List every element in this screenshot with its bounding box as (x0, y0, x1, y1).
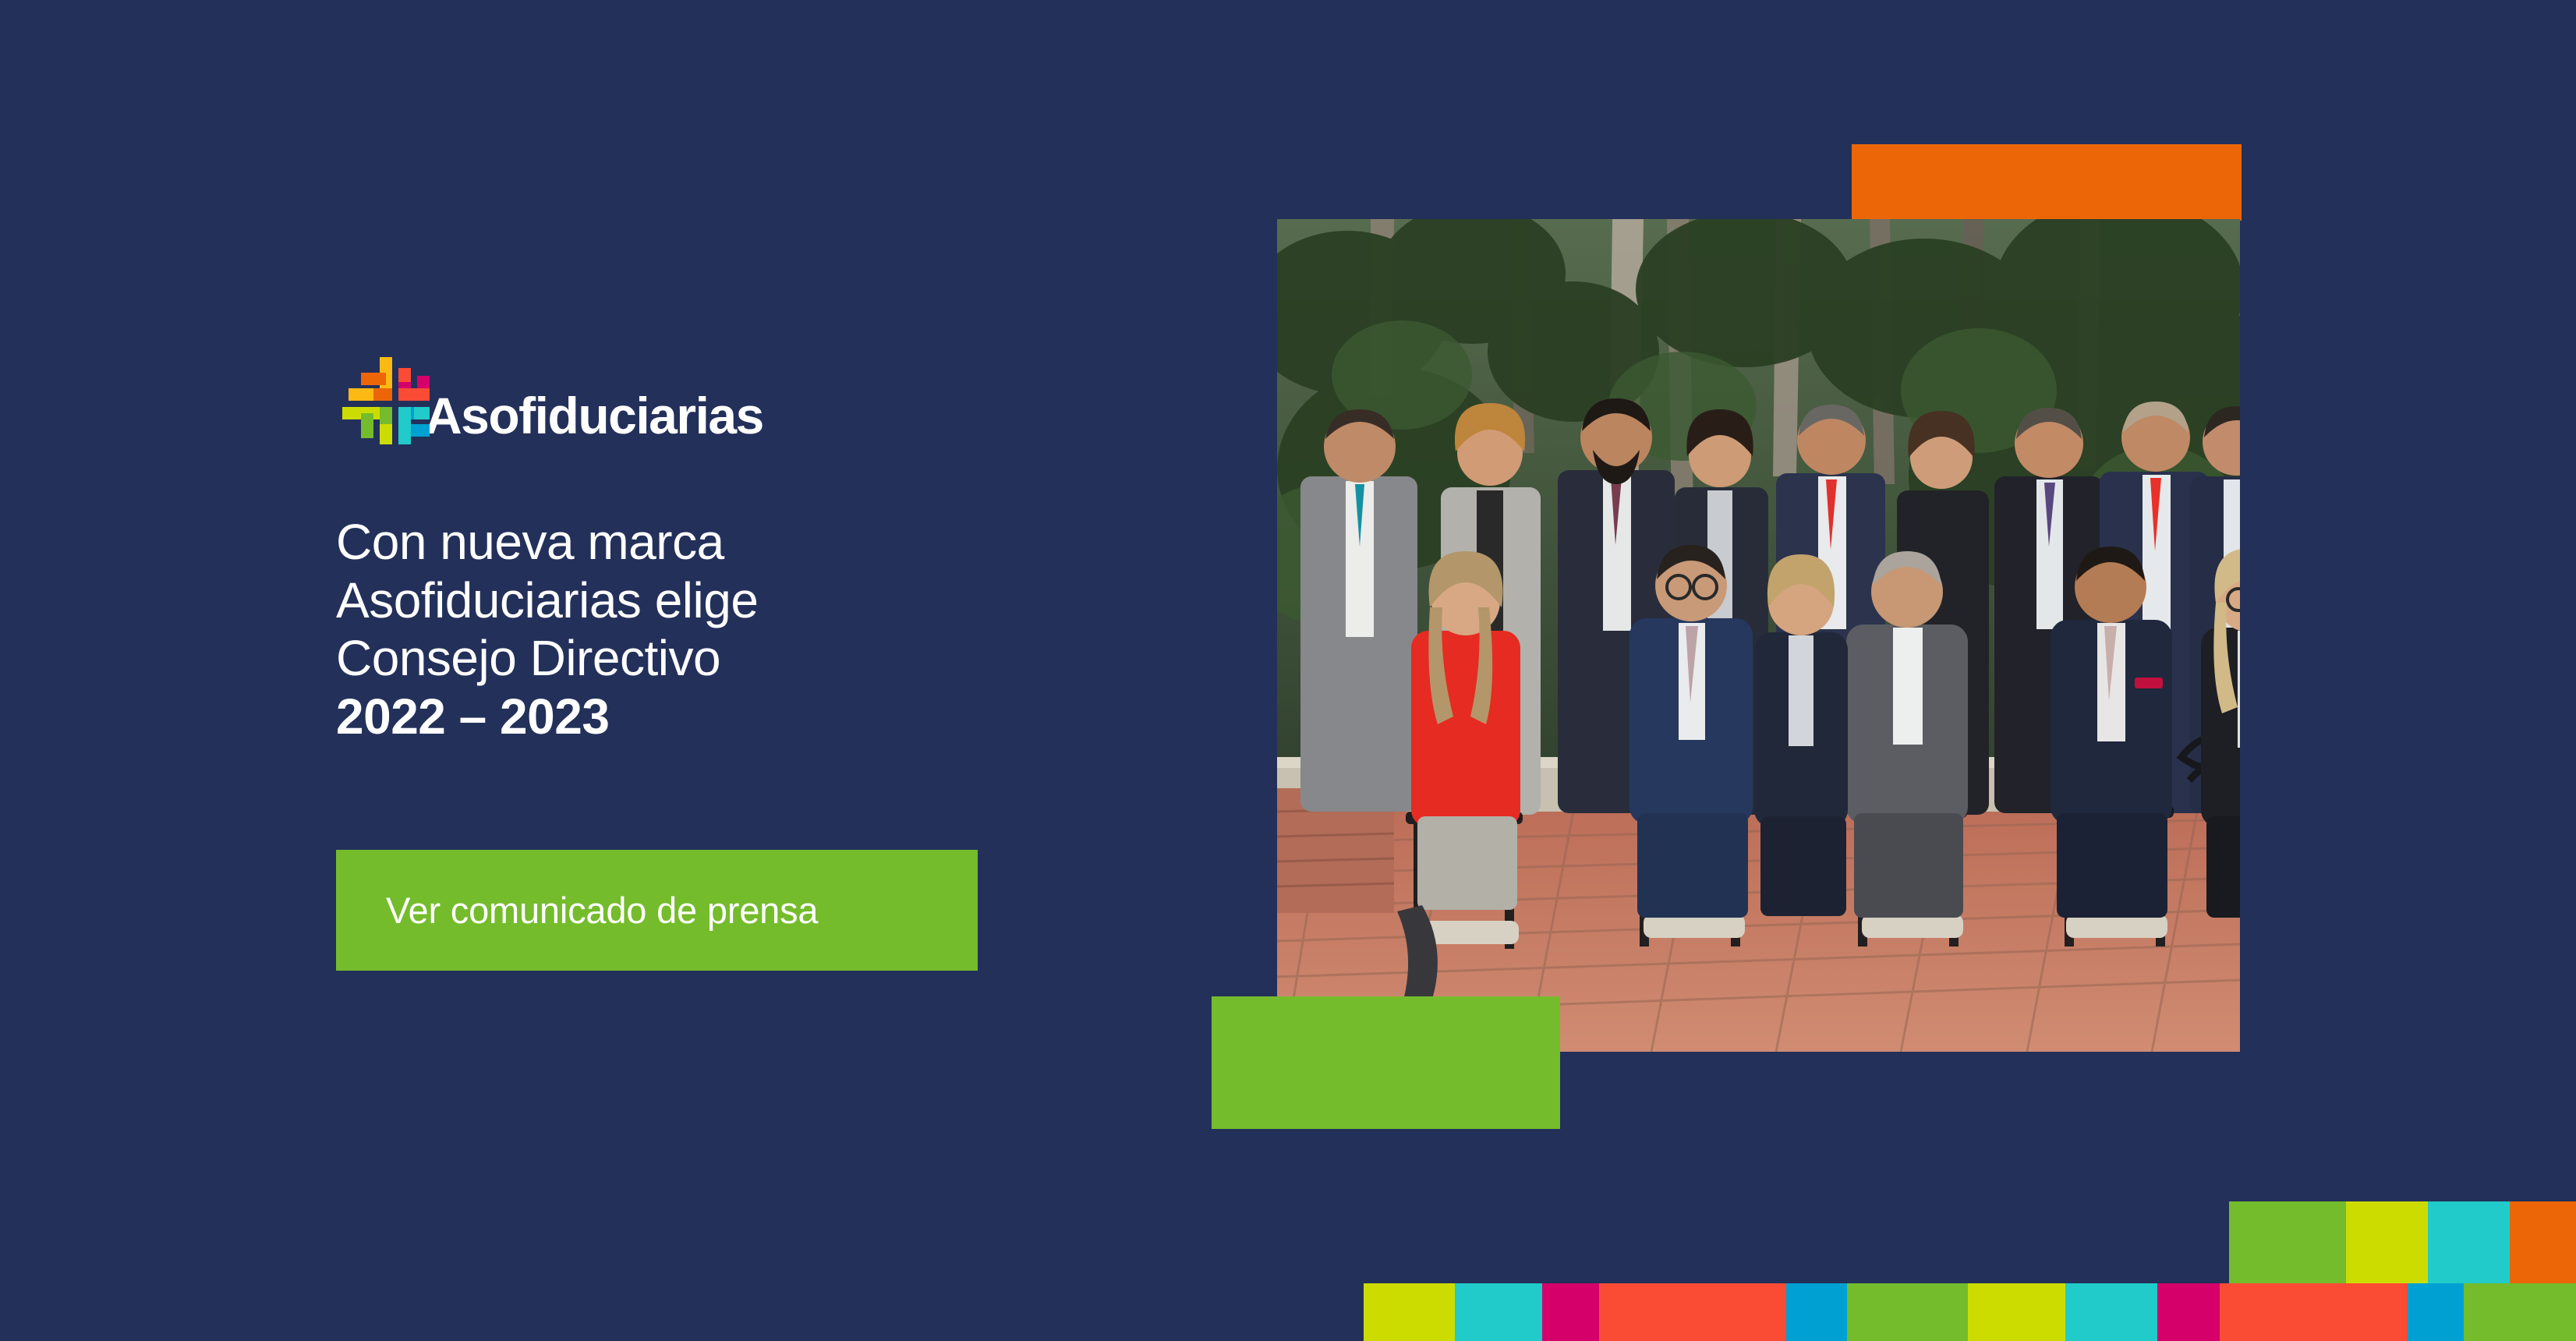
orange-accent-block (1852, 144, 2242, 221)
lower-color-strip-swatch-3 (1599, 1283, 1786, 1341)
upper-color-strip-swatch-2 (2428, 1201, 2510, 1283)
logo-cell-1 (361, 373, 386, 385)
upper-color-strip-swatch-3 (2510, 1201, 2576, 1283)
brand-wordmark: Asofiduciarias (425, 390, 763, 441)
upper-color-strip-swatch-1 (2346, 1201, 2428, 1283)
logo-cell-13 (414, 407, 430, 419)
logo-cell-7 (398, 388, 430, 401)
headline-line-2: Asofiduciarias elige (336, 571, 1053, 630)
lower-color-strip-swatch-11 (2464, 1283, 2576, 1341)
promo-banner: Asofiduciarias Con nueva marca Asofiduci… (0, 0, 2576, 1341)
press-release-button[interactable]: Ver comunicado de prensa (336, 850, 978, 971)
lower-color-strip-swatch-6 (1968, 1283, 2065, 1341)
lower-color-strip-swatch-7 (2065, 1283, 2157, 1341)
lower-color-strip-swatch-9 (2220, 1283, 2408, 1341)
headline-line-3: Consejo Directivo (336, 629, 1053, 688)
lower-color-strip-swatch-2 (1542, 1283, 1599, 1341)
upper-color-strip (2229, 1201, 2576, 1283)
lower-color-strip-swatch-10 (2408, 1283, 2464, 1341)
board-group-photo (1277, 219, 2240, 1052)
upper-color-strip-swatch-0 (2229, 1201, 2346, 1283)
logo-cell-2 (349, 388, 373, 401)
green-accent-block (1212, 996, 1560, 1129)
logo-cell-11 (380, 424, 392, 444)
press-release-button-label: Ver comunicado de prensa (386, 889, 818, 932)
lower-color-strip-swatch-5 (1847, 1283, 1968, 1341)
asofiduciarias-grid-logo-icon (336, 357, 423, 444)
lower-color-strip (1364, 1283, 2576, 1341)
headline-line-1: Con nueva marca (336, 513, 1053, 571)
logo-cell-10 (361, 413, 373, 438)
lower-color-strip-swatch-1 (1455, 1283, 1542, 1341)
lower-color-strip-swatch-4 (1786, 1283, 1847, 1341)
photo-illustration (1277, 219, 2240, 1052)
headline-years: 2022 – 2023 (336, 688, 1053, 746)
logo-cell-14 (398, 407, 411, 444)
lower-color-strip-swatch-0 (1364, 1283, 1455, 1341)
logo-cell-3 (373, 388, 392, 401)
logo-cell-15 (411, 424, 430, 437)
lower-color-strip-swatch-8 (2157, 1283, 2220, 1341)
page-title: Con nueva marca Asofiduciarias elige Con… (336, 513, 1053, 745)
brand-logo[interactable]: Asofiduciarias (336, 343, 763, 444)
